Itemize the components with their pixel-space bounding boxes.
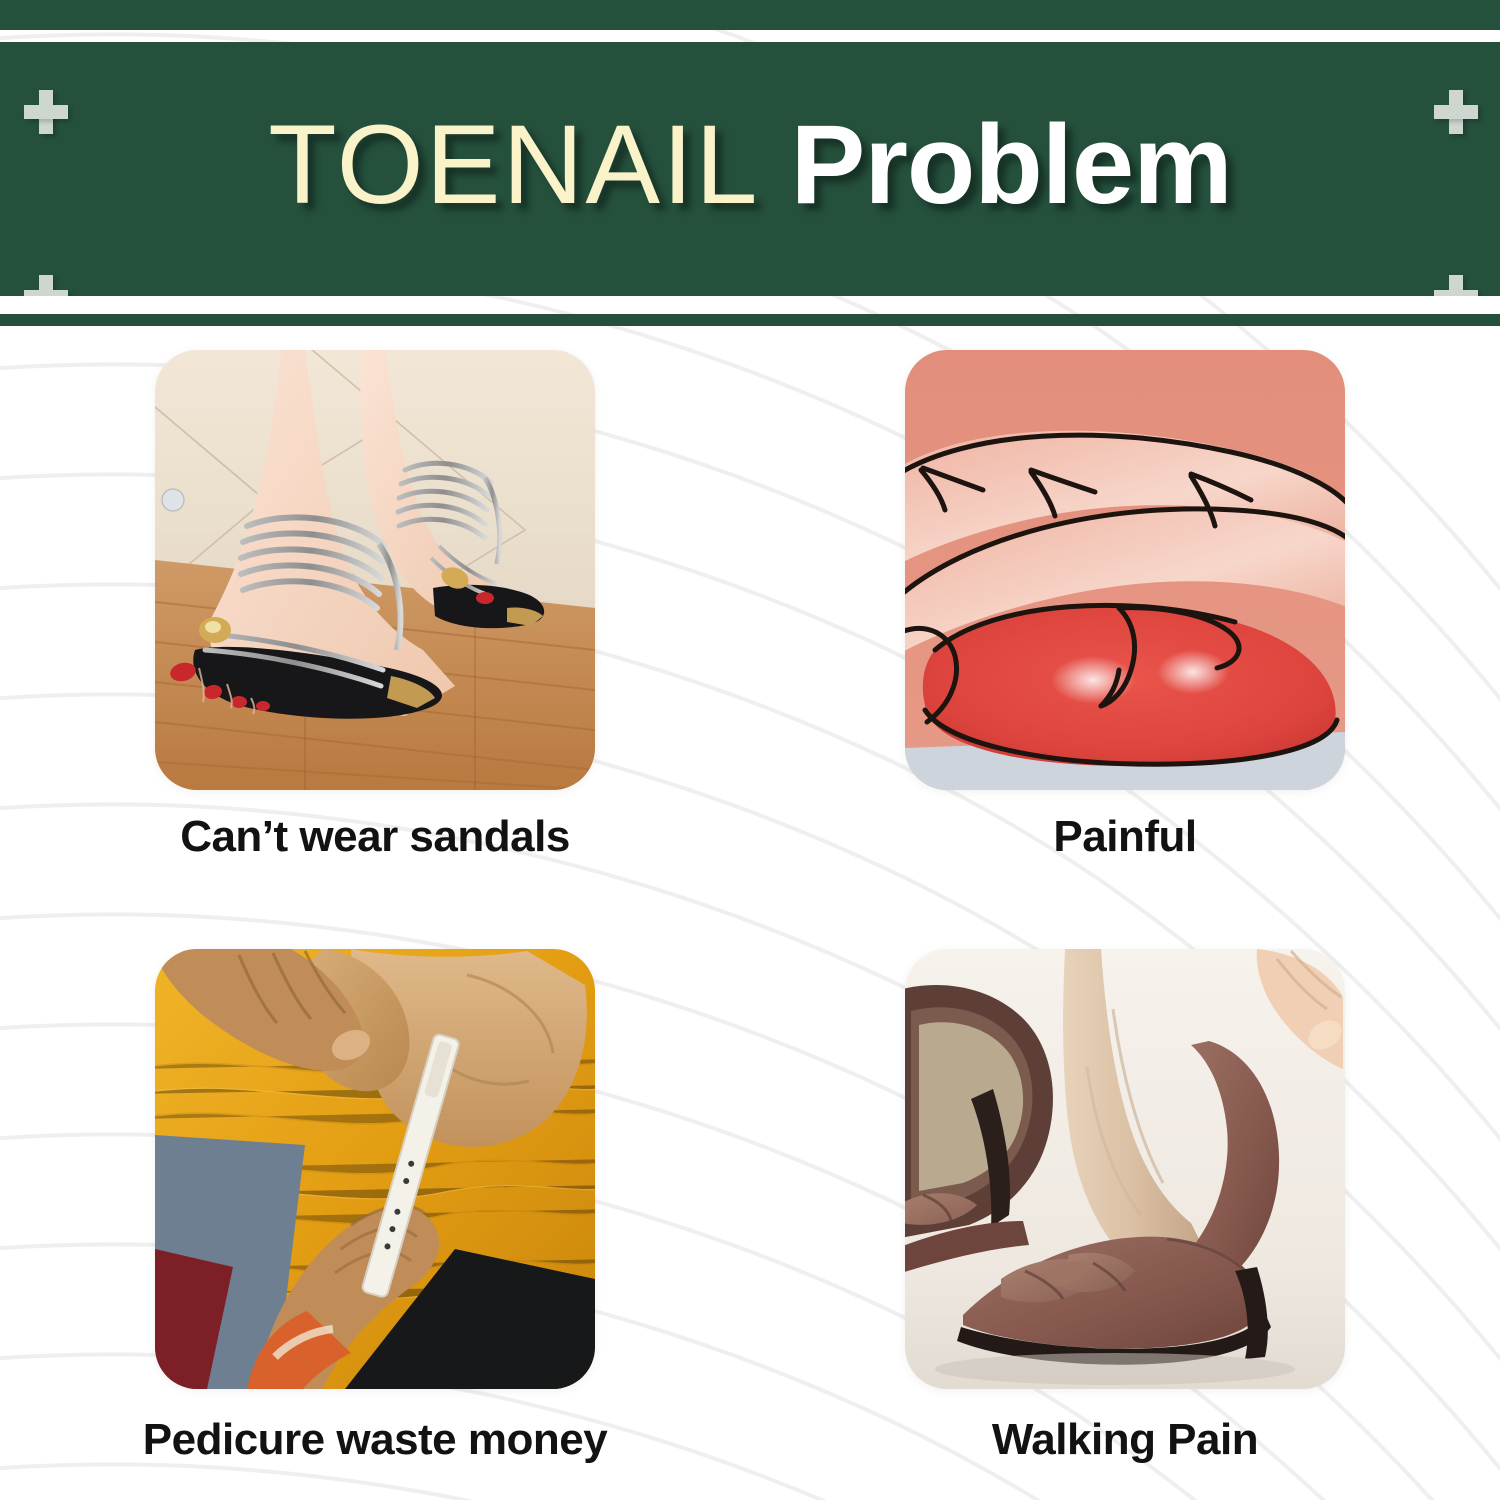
page-title-part1: TOENAIL: [268, 102, 759, 227]
problem-card[interactable]: Walking Pain: [750, 915, 1500, 1500]
page-title: TOENAIL Problem: [268, 109, 1231, 221]
card-image-painful-toe: [905, 350, 1345, 790]
card-caption: Can’t wear sandals: [180, 812, 570, 862]
header-underline-strip: [0, 314, 1500, 326]
card-caption: Walking Pain: [992, 1415, 1258, 1465]
problem-card[interactable]: Pedicure waste money: [0, 915, 750, 1500]
card-image-high-heels: [905, 949, 1345, 1389]
plus-icon-top-right: [1434, 90, 1478, 134]
top-accent-strip: [0, 0, 1500, 30]
plus-icon-bottom-right: [1434, 275, 1478, 296]
card-image-sandals: [155, 350, 595, 790]
problem-card[interactable]: Painful: [750, 330, 1500, 915]
header-banner: TOENAIL Problem: [0, 42, 1500, 296]
card-caption: Painful: [1053, 812, 1196, 862]
page-title-part2: Problem: [791, 102, 1232, 227]
plus-icon-bottom-left: [24, 275, 68, 296]
problem-card-grid: Can’t wear sandals: [0, 330, 1500, 1500]
problem-card[interactable]: Can’t wear sandals: [0, 330, 750, 915]
card-caption: Pedicure waste money: [143, 1415, 607, 1465]
plus-icon-top-left: [24, 90, 68, 134]
card-image-pedicure: [155, 949, 595, 1389]
